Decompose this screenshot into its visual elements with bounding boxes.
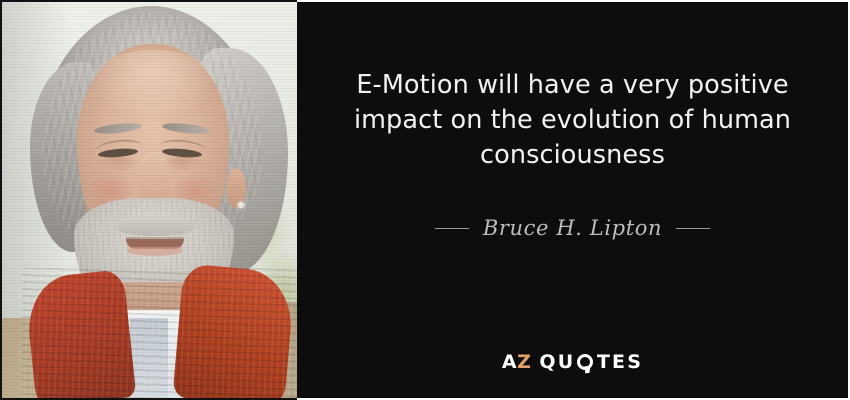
earring xyxy=(238,202,244,208)
portrait-panel xyxy=(0,0,297,400)
quote-text: E-Motion will have a very positive impac… xyxy=(297,68,848,173)
logo-letter-a: A xyxy=(502,351,517,373)
forehead xyxy=(88,50,218,120)
azquotes-logo[interactable]: AZ QUTES xyxy=(297,351,848,373)
dash-right-icon xyxy=(676,228,710,229)
quote-card: E-Motion will have a very positive impac… xyxy=(0,0,850,400)
logo-quotes-suffix: TES xyxy=(597,351,643,373)
shirt-shadow xyxy=(130,318,168,398)
quote-line-2: impact on the evolution of human xyxy=(341,103,804,138)
attribution: Bruce H. Lipton xyxy=(297,216,848,240)
quote-line-1: E-Motion will have a very positive xyxy=(341,68,804,103)
speech-bubble-icon xyxy=(577,354,593,370)
quote-line-3: consciousness xyxy=(341,138,804,173)
quote-panel: E-Motion will have a very positive impac… xyxy=(297,0,850,400)
portrait-image xyxy=(2,2,297,398)
dash-left-icon xyxy=(435,228,469,229)
lower-lip xyxy=(128,247,182,256)
author-name[interactable]: Bruce H. Lipton xyxy=(483,216,662,240)
logo-quotes-prefix: QU xyxy=(539,351,575,373)
logo-letter-z: Z xyxy=(517,351,531,373)
logo-az: AZ xyxy=(502,351,532,373)
moustache xyxy=(114,214,196,236)
logo-quotes-word: QUTES xyxy=(539,351,643,373)
